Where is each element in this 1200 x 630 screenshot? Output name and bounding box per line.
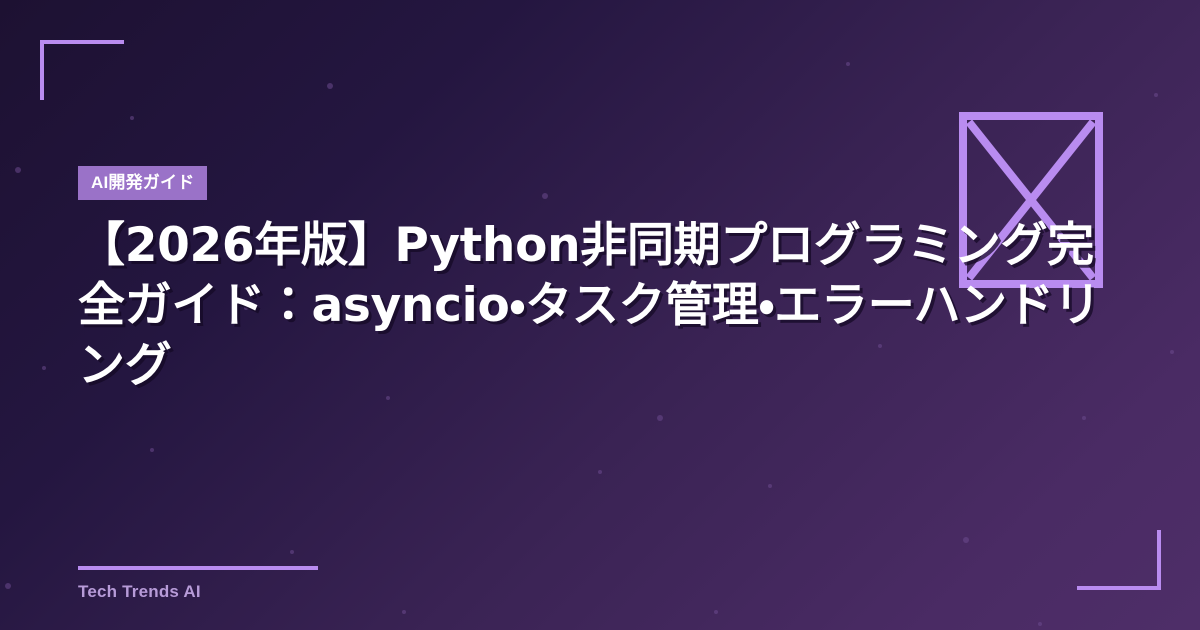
footer-accent-rule [78, 566, 318, 570]
card-footer: Tech Trends AI [78, 566, 478, 602]
decorative-dot [15, 167, 21, 173]
og-card: AI開発ガイド 【2026年版】Python非同期プログラミング完全ガイド：as… [0, 0, 1200, 630]
bracket-vertical-line [40, 40, 44, 100]
page-title: 【2026年版】Python非同期プログラミング完全ガイド：asyncio・タス… [78, 216, 1108, 396]
brand-name: Tech Trends AI [78, 582, 478, 602]
decorative-dot [1170, 350, 1174, 354]
decorative-dot [42, 366, 46, 370]
decorative-dot [5, 583, 11, 589]
bracket-vertical-line [1157, 530, 1161, 590]
decorative-dot [1154, 93, 1158, 97]
category-badge: AI開発ガイド [78, 166, 207, 200]
card-content: AI開発ガイド 【2026年版】Python非同期プログラミング完全ガイド：as… [78, 0, 1118, 630]
